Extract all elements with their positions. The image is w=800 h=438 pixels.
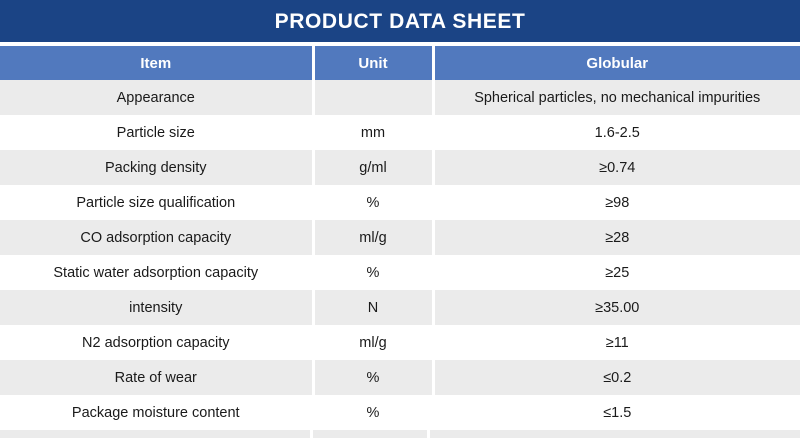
table-cell-unit: ml/g (313, 325, 433, 360)
table-cell-value: ≥35.00 (433, 290, 800, 325)
table-row: Static water adsorption capacity%≥25 (0, 255, 800, 290)
table-row-overflow-partial (0, 430, 800, 438)
table-cell-unit: ml/g (313, 220, 433, 255)
product-data-sheet: PRODUCT DATA SHEET Item Unit Globular Ap… (0, 0, 800, 433)
table-cell-unit (313, 80, 433, 115)
table-row: Packing densityg/ml≥0.74 (0, 150, 800, 185)
table-cell-item: Static water adsorption capacity (0, 255, 313, 290)
table-body: AppearanceSpherical particles, no mechan… (0, 80, 800, 430)
table-row: CO adsorption capacityml/g≥28 (0, 220, 800, 255)
table-cell-unit: g/ml (313, 150, 433, 185)
overflow-cell-unit (313, 430, 427, 438)
table-cell-value: ≥11 (433, 325, 800, 360)
table-cell-item: N2 adsorption capacity (0, 325, 313, 360)
table-cell-unit: % (313, 185, 433, 220)
table-cell-unit: mm (313, 115, 433, 150)
table-header: Item Unit Globular (0, 46, 800, 80)
table-cell-value: ≥98 (433, 185, 800, 220)
table-row: intensityN≥35.00 (0, 290, 800, 325)
table-cell-unit: % (313, 395, 433, 430)
table-cell-item: intensity (0, 290, 313, 325)
table-row: Particle size qualification%≥98 (0, 185, 800, 220)
table-cell-value: ≤0.2 (433, 360, 800, 395)
table-cell-value: 1.6-2.5 (433, 115, 800, 150)
table-cell-item: CO adsorption capacity (0, 220, 313, 255)
sheet-title-band: PRODUCT DATA SHEET (0, 0, 800, 42)
table-cell-unit: % (313, 360, 433, 395)
table-cell-item: Rate of wear (0, 360, 313, 395)
table-row: AppearanceSpherical particles, no mechan… (0, 80, 800, 115)
table-cell-item: Packing density (0, 150, 313, 185)
table-cell-value: ≥25 (433, 255, 800, 290)
table-cell-item: Particle size qualification (0, 185, 313, 220)
specifications-table: Item Unit Globular AppearanceSpherical p… (0, 46, 800, 430)
table-row: Package moisture content%≤1.5 (0, 395, 800, 430)
table-cell-value: ≥0.74 (433, 150, 800, 185)
table-row: Particle sizemm1.6-2.5 (0, 115, 800, 150)
table-cell-item: Package moisture content (0, 395, 313, 430)
page-title: PRODUCT DATA SHEET (275, 11, 526, 32)
table-cell-unit: N (313, 290, 433, 325)
table-cell-value: ≥28 (433, 220, 800, 255)
overflow-cell-item (0, 430, 310, 438)
column-header-globular: Globular (433, 46, 800, 80)
table-cell-item: Appearance (0, 80, 313, 115)
table-cell-item: Particle size (0, 115, 313, 150)
overflow-cell-value (430, 430, 800, 438)
column-header-item: Item (0, 46, 313, 80)
table-cell-value: ≤1.5 (433, 395, 800, 430)
table-cell-value: Spherical particles, no mechanical impur… (433, 80, 800, 115)
table-cell-unit: % (313, 255, 433, 290)
table-row: N2 adsorption capacityml/g≥11 (0, 325, 800, 360)
table-header-row: Item Unit Globular (0, 46, 800, 80)
column-header-unit: Unit (313, 46, 433, 80)
table-row: Rate of wear%≤0.2 (0, 360, 800, 395)
